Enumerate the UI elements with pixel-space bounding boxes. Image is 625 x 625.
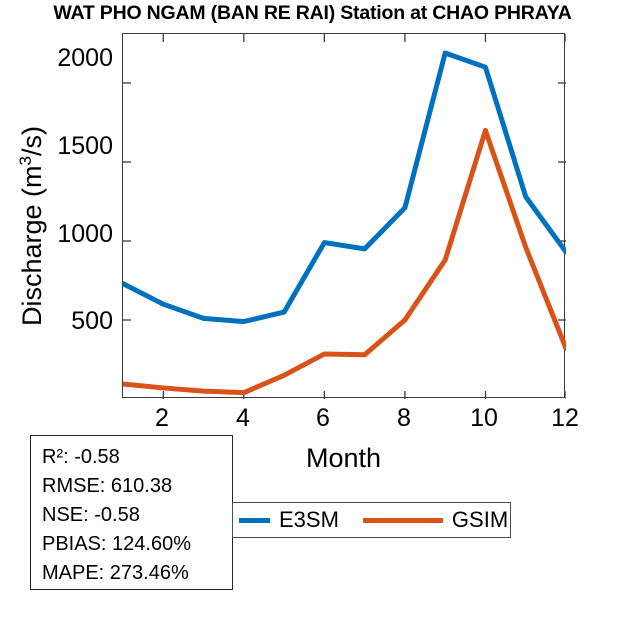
series-line-e3sm xyxy=(123,53,566,322)
stat-line-rmse: RMSE: 610.38 xyxy=(42,472,232,501)
plot-area xyxy=(122,33,565,398)
legend-label: E3SM xyxy=(279,507,339,533)
x-axis-tick-label: 4 xyxy=(213,404,273,433)
x-axis-tick-label: 12 xyxy=(535,404,595,433)
figure-canvas: WAT PHO NGAM (BAN RE RAI) Station at CHA… xyxy=(0,0,625,625)
stat-line-pbias: PBIAS: 124.60% xyxy=(42,530,232,559)
stat-line-r2: R²: -0.58 xyxy=(42,443,232,472)
series-line-gsim xyxy=(123,130,566,392)
x-axis-tick-label: 10 xyxy=(454,404,514,433)
x-axis-tick-label: 8 xyxy=(374,404,434,433)
y-axis-title: Discharge (m3/s) xyxy=(16,46,48,406)
stat-line-mape: MAPE: 273.46% xyxy=(42,559,232,588)
legend-color-swatch xyxy=(363,518,443,523)
x-axis-tick-label: 6 xyxy=(293,404,353,433)
legend-color-swatch xyxy=(239,518,270,523)
y-axis-title-base: Discharge (m xyxy=(17,165,47,326)
stat-line-nse: NSE: -0.58 xyxy=(42,501,232,530)
series-canvas xyxy=(123,34,566,399)
legend-item-e3sm[interactable]: E3SM xyxy=(239,507,339,533)
legend-label: GSIM xyxy=(452,507,508,533)
x-axis-tick-label: 2 xyxy=(132,404,192,433)
y-axis-title-tail: /s) xyxy=(17,126,47,156)
legend-item-gsim[interactable]: GSIM xyxy=(363,507,508,533)
y-axis-title-exponent: 3 xyxy=(16,156,35,165)
legend[interactable]: E3SM GSIM xyxy=(232,502,511,538)
data-series-group xyxy=(123,53,566,393)
axis-tick-marks xyxy=(123,34,566,399)
statistics-annotation-box: R²: -0.58 RMSE: 610.38 NSE: -0.58 PBIAS:… xyxy=(30,435,233,590)
